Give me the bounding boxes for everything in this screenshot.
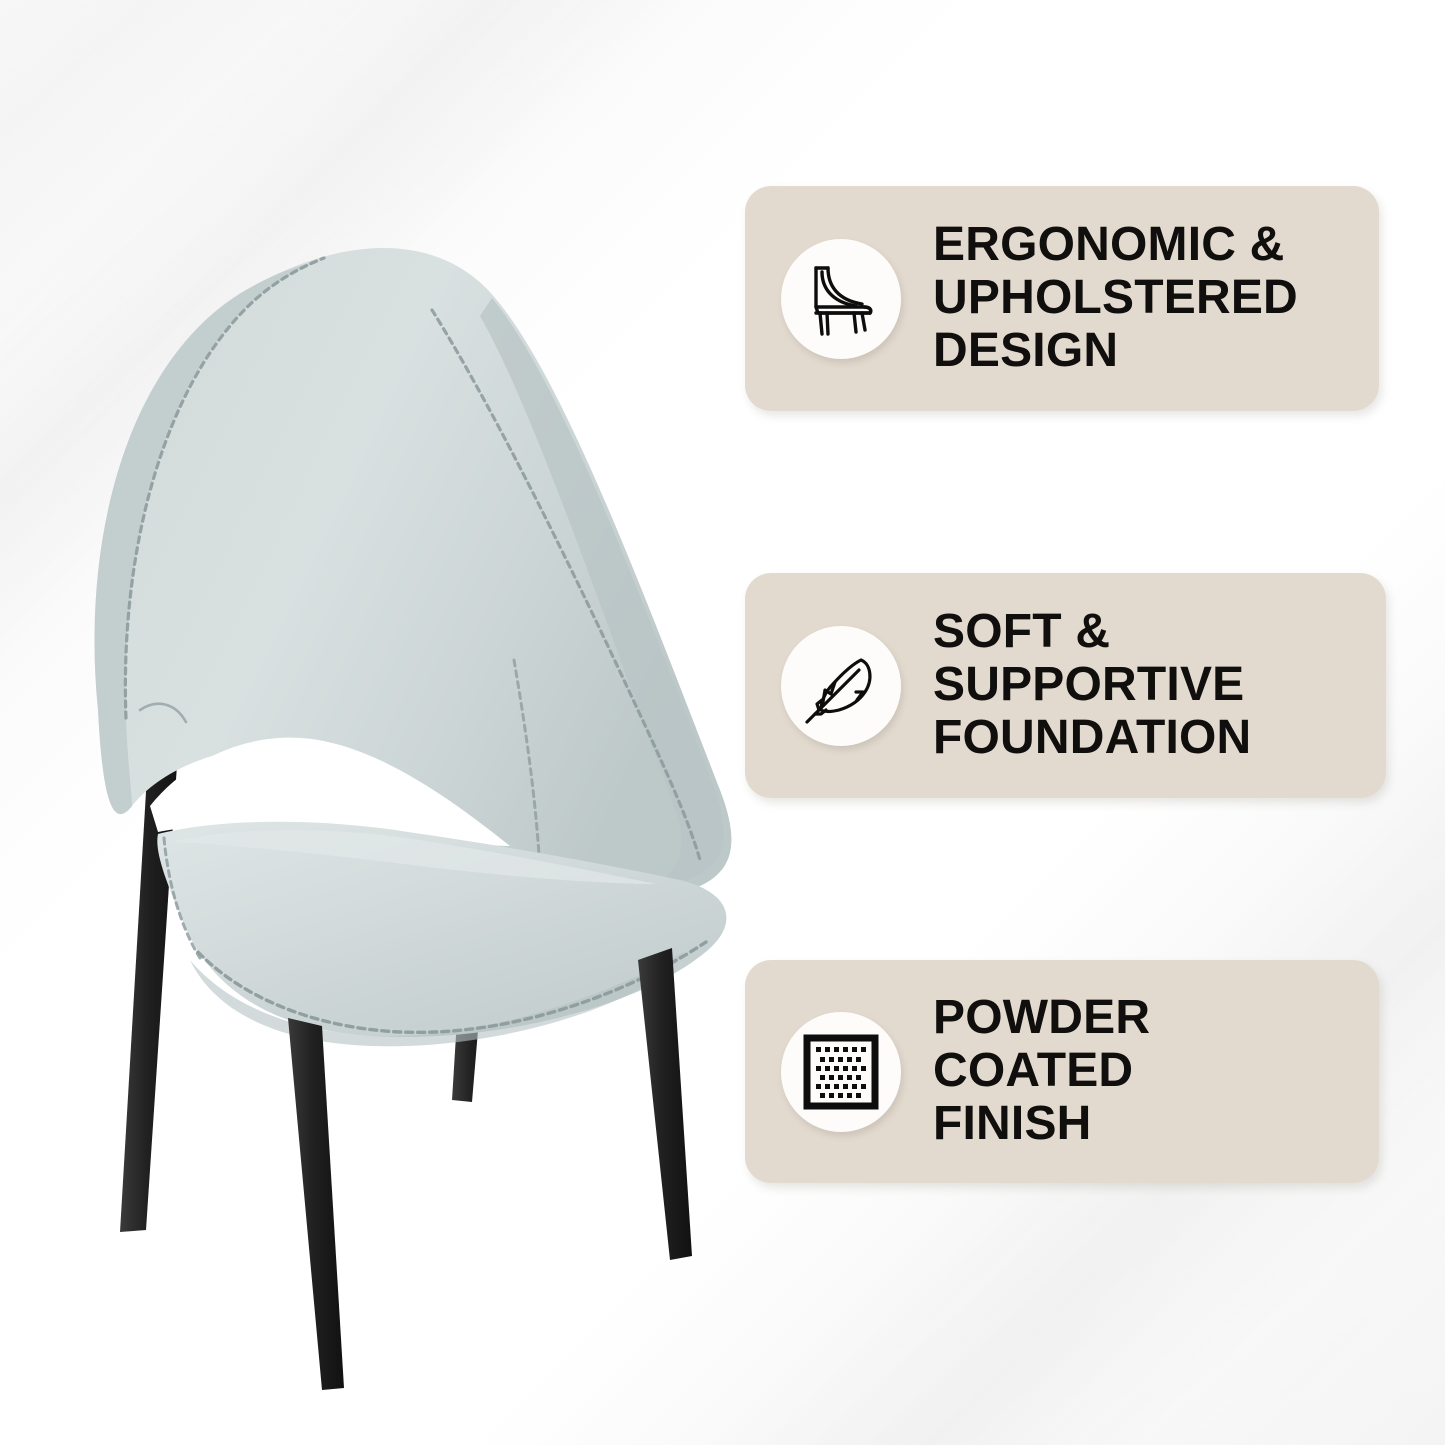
feature-label: ERGONOMIC & UPHOLSTERED DESIGN xyxy=(933,219,1379,377)
feather-icon xyxy=(781,626,901,746)
powder-coat-texture-icon xyxy=(781,1012,901,1132)
feature-badge-ergonomic[interactable]: ERGONOMIC & UPHOLSTERED DESIGN xyxy=(745,186,1379,411)
chair-leg-front-left xyxy=(288,1018,344,1390)
feature-badge-soft-supportive[interactable]: SOFT & SUPPORTIVE FOUNDATION xyxy=(745,573,1386,798)
feature-label: POWDER COATED FINISH xyxy=(933,992,1379,1150)
feature-badge-powder-coated[interactable]: POWDER COATED FINISH xyxy=(745,960,1379,1183)
chair-side-view-icon xyxy=(781,239,901,359)
feature-label: SOFT & SUPPORTIVE FOUNDATION xyxy=(933,606,1386,764)
infographic-canvas: ERGONOMIC & UPHOLSTERED DESIGN SOFT & SU… xyxy=(0,0,1445,1445)
chair-leg-front-right xyxy=(638,948,692,1260)
product-image-chair xyxy=(40,170,760,1400)
